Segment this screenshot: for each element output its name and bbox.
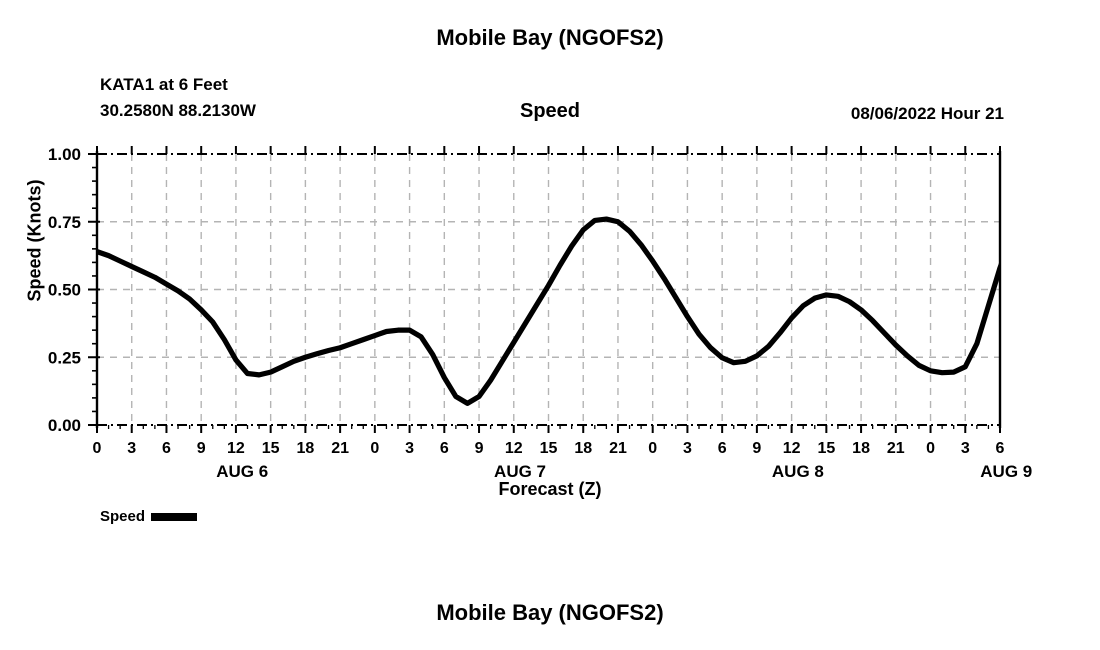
x-tick-label: 6	[718, 440, 727, 457]
x-tick-label: 0	[370, 440, 379, 457]
x-tick-label: 3	[405, 440, 414, 457]
x-tick-label: 3	[127, 440, 136, 457]
x-tick-label: 18	[296, 440, 314, 457]
y-tick-label: 0.75	[48, 213, 81, 232]
chart-figure: Mobile Bay (NGOFS2) KATA1 at 6 Feet 30.2…	[0, 0, 1100, 650]
y-tick-label: 1.00	[48, 145, 81, 164]
y-tick-label: 0.50	[48, 281, 81, 300]
x-tick-label: 18	[574, 440, 592, 457]
x-tick-label: 0	[93, 440, 102, 457]
chart-legend: Speed	[100, 508, 197, 525]
legend-label: Speed	[100, 508, 145, 525]
x-tick-label: 12	[783, 440, 801, 457]
x-tick-label: 12	[505, 440, 523, 457]
x-tick-label: 21	[331, 440, 349, 457]
x-tick-label: 6	[440, 440, 449, 457]
x-tick-label: 15	[540, 440, 558, 457]
x-tick-label: 21	[887, 440, 905, 457]
legend-line-swatch	[151, 513, 197, 521]
x-tick-label: 18	[852, 440, 870, 457]
x-tick-label: 15	[262, 440, 280, 457]
x-tick-label: 12	[227, 440, 245, 457]
y-tick-label: 0.25	[48, 348, 81, 367]
x-tick-label: 9	[197, 440, 206, 457]
x-axis-label: Forecast (Z)	[0, 479, 1100, 500]
x-tick-label: 9	[752, 440, 761, 457]
x-tick-label: 21	[609, 440, 627, 457]
y-axis-ticks: 0.000.250.500.751.00	[48, 145, 100, 435]
x-tick-label: 0	[926, 440, 935, 457]
data-series-speed	[97, 197, 1100, 404]
y-tick-label: 0.00	[48, 416, 81, 435]
x-tick-label: 3	[683, 440, 692, 457]
x-tick-label: 0	[648, 440, 657, 457]
x-tick-label: 15	[817, 440, 835, 457]
x-tick-label: 6	[162, 440, 171, 457]
x-tick-label: 9	[475, 440, 484, 457]
plot-canvas: 0.000.250.500.751.0003691215182103691215…	[0, 0, 1100, 500]
chart-title-bottom: Mobile Bay (NGOFS2)	[0, 600, 1100, 626]
x-tick-label: 6	[996, 440, 1005, 457]
x-tick-label: 3	[961, 440, 970, 457]
